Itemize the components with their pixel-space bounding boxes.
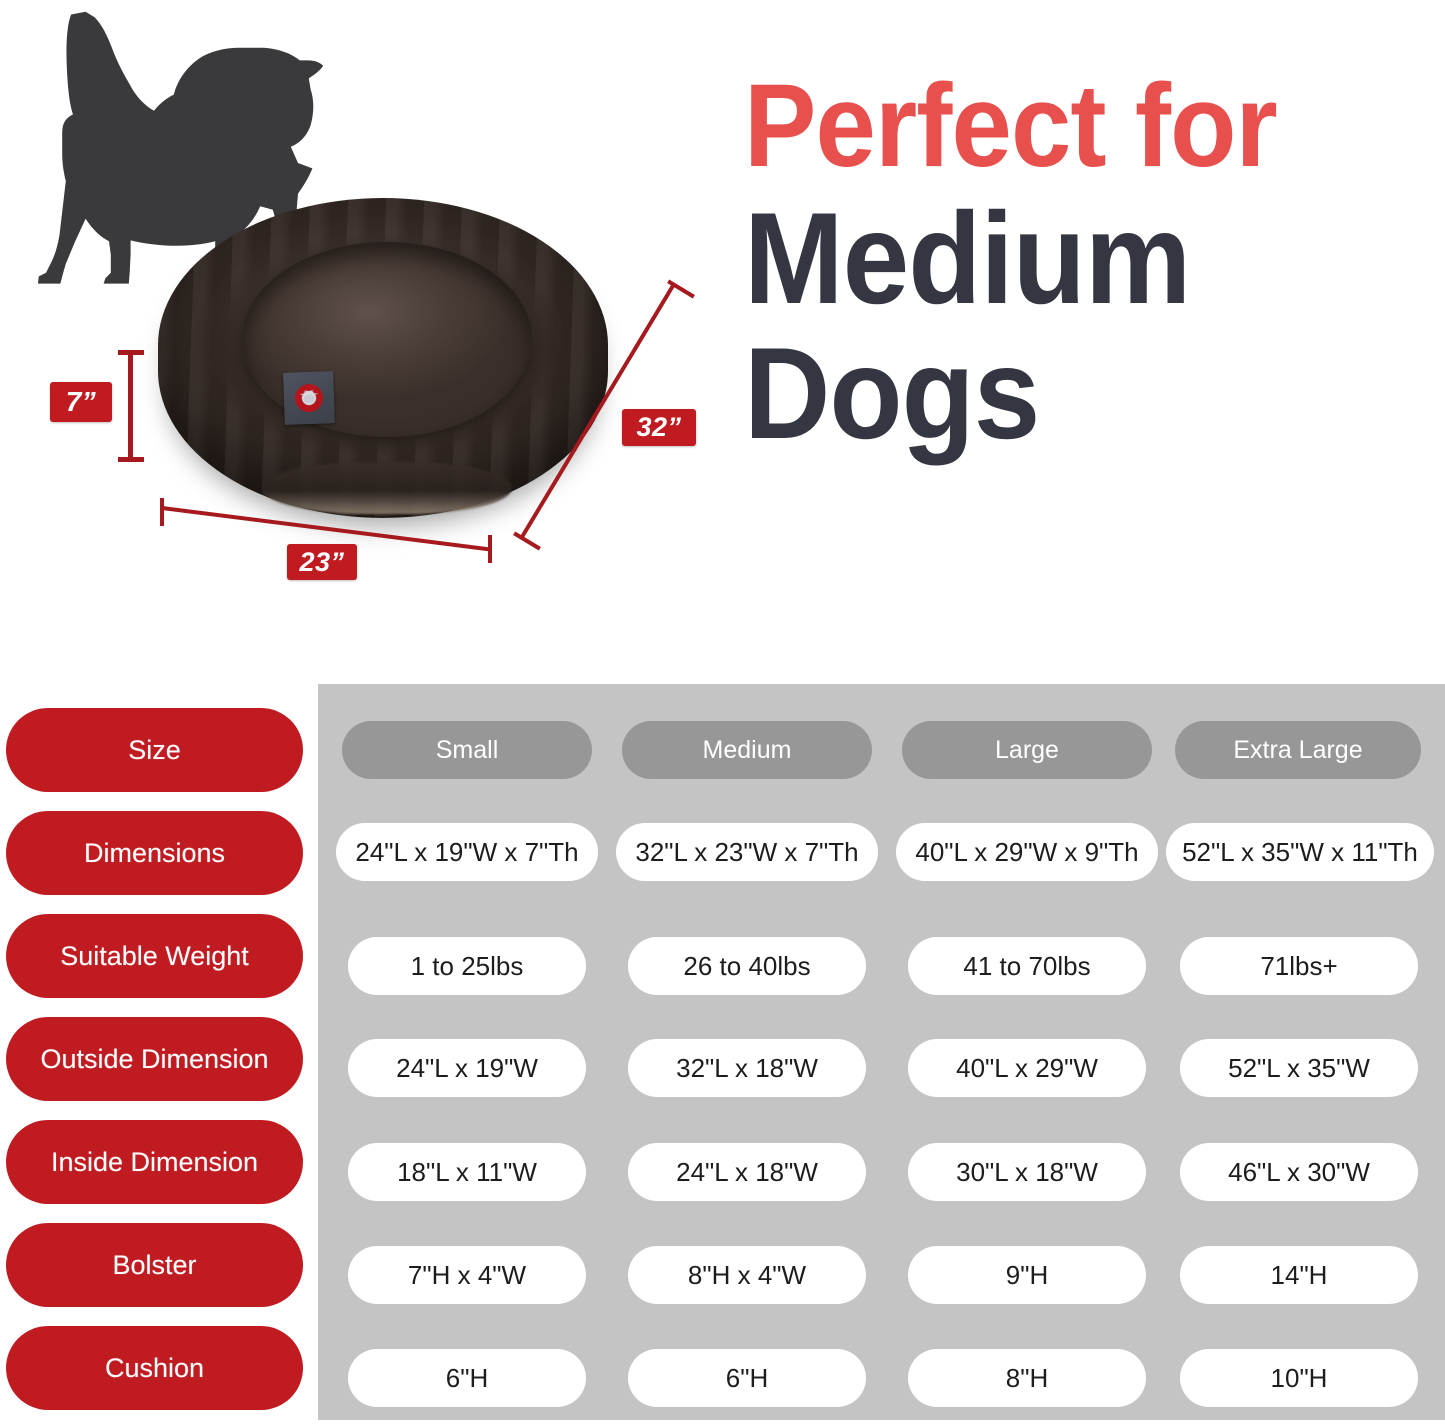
headline-line-dogs: Dogs bbox=[744, 333, 1388, 454]
width-callout-value: 23” bbox=[299, 547, 344, 578]
table-cell-text: 8"H bbox=[1006, 1363, 1048, 1394]
table-cell-text: 8"H x 4"W bbox=[688, 1260, 806, 1291]
table-cell-text: 24"L x 18"W bbox=[676, 1157, 818, 1188]
height-callout-badge: 7” bbox=[50, 382, 112, 422]
table-cell-text: 6"H bbox=[726, 1363, 768, 1394]
length-callout-value: 32” bbox=[636, 412, 681, 443]
paw-logo-icon bbox=[295, 384, 324, 413]
length-callout-badge: 32” bbox=[622, 409, 696, 446]
table-cell-text: 52"L x 35"W bbox=[1228, 1053, 1370, 1084]
table-cell: 14"H bbox=[1180, 1246, 1418, 1304]
hero-section: 7” 23” 32” Perfect for Medium Dogs bbox=[0, 0, 1445, 660]
row-label-suitable-weight: Suitable Weight bbox=[6, 914, 303, 998]
table-cell: 46"L x 30"W bbox=[1180, 1143, 1418, 1201]
table-cell-text: 32"L x 23"W x 7"Th bbox=[635, 837, 858, 868]
column-header-text: Extra Large bbox=[1233, 736, 1362, 765]
column-header-text: Medium bbox=[703, 736, 792, 765]
height-tick-top bbox=[118, 350, 144, 355]
row-label-bolster: Bolster bbox=[6, 1223, 303, 1307]
column-header-small: Small bbox=[342, 721, 592, 779]
table-cell: 30"L x 18"W bbox=[908, 1143, 1146, 1201]
table-cell-text: 41 to 70lbs bbox=[963, 951, 1090, 982]
table-cell-text: 40"L x 29"W bbox=[956, 1053, 1098, 1084]
table-cell: 26 to 40lbs bbox=[628, 937, 866, 995]
width-callout-badge: 23” bbox=[287, 544, 357, 580]
headline-line-medium: Medium bbox=[744, 198, 1388, 319]
table-cell: 7"H x 4"W bbox=[348, 1246, 586, 1304]
row-label-size: Size bbox=[6, 708, 303, 792]
headline-block: Perfect for Medium Dogs bbox=[744, 72, 1444, 454]
width-tick-right bbox=[488, 535, 492, 563]
table-cell: 71lbs+ bbox=[1180, 937, 1418, 995]
table-cell: 10"H bbox=[1180, 1349, 1418, 1407]
table-cell-text: 1 to 25lbs bbox=[411, 951, 524, 982]
height-dimension-line bbox=[128, 350, 133, 462]
table-cell-text: 24"L x 19"W bbox=[396, 1053, 538, 1084]
row-label-text: Bolster bbox=[112, 1250, 196, 1281]
column-header-text: Large bbox=[995, 736, 1059, 765]
row-label-dimensions: Dimensions bbox=[6, 811, 303, 895]
table-cell-text: 6"H bbox=[446, 1363, 488, 1394]
table-cell: 52"L x 35"W bbox=[1180, 1039, 1418, 1097]
table-cell-text: 30"L x 18"W bbox=[956, 1157, 1098, 1188]
table-cell: 8"H bbox=[908, 1349, 1146, 1407]
table-cell: 24"L x 19"W x 7"Th bbox=[336, 823, 598, 881]
table-cell-text: 18"L x 11"W bbox=[397, 1157, 537, 1188]
row-label-text: Size bbox=[128, 735, 181, 766]
row-label-text: Outside Dimension bbox=[40, 1044, 268, 1075]
table-cell-text: 10"H bbox=[1271, 1363, 1328, 1394]
table-cell: 32"L x 18"W bbox=[628, 1039, 866, 1097]
table-cell: 40"L x 29"W bbox=[908, 1039, 1146, 1097]
row-label-text: Dimensions bbox=[84, 838, 225, 869]
table-cell: 52"L x 35"W x 11"Th bbox=[1166, 823, 1434, 881]
width-tick-left bbox=[160, 498, 164, 526]
table-cell-text: 9"H bbox=[1006, 1260, 1048, 1291]
column-header-large: Large bbox=[902, 721, 1152, 779]
spec-table: Size Dimensions Suitable Weight Outside … bbox=[0, 684, 1445, 1427]
table-cell: 32"L x 23"W x 7"Th bbox=[616, 823, 878, 881]
table-cell-text: 14"H bbox=[1271, 1260, 1328, 1291]
row-label-outside-dimension: Outside Dimension bbox=[6, 1017, 303, 1101]
table-cell: 24"L x 18"W bbox=[628, 1143, 866, 1201]
table-cell: 18"L x 11"W bbox=[348, 1143, 586, 1201]
row-label-text: Cushion bbox=[105, 1353, 204, 1384]
table-cell-text: 26 to 40lbs bbox=[683, 951, 810, 982]
table-cell-text: 46"L x 30"W bbox=[1228, 1157, 1370, 1188]
table-cell: 6"H bbox=[628, 1349, 866, 1407]
row-label-cushion: Cushion bbox=[6, 1326, 303, 1410]
table-cell: 9"H bbox=[908, 1246, 1146, 1304]
table-cell: 24"L x 19"W bbox=[348, 1039, 586, 1097]
column-header-medium: Medium bbox=[622, 721, 872, 779]
table-cell: 6"H bbox=[348, 1349, 586, 1407]
height-callout-value: 7” bbox=[66, 386, 97, 418]
row-label-text: Suitable Weight bbox=[60, 941, 249, 972]
brand-tag bbox=[283, 371, 335, 425]
table-cell: 1 to 25lbs bbox=[348, 937, 586, 995]
table-cell: 40"L x 29"W x 9"Th bbox=[896, 823, 1158, 881]
table-cell: 41 to 70lbs bbox=[908, 937, 1146, 995]
length-tick-bottom bbox=[513, 532, 541, 551]
row-label-inside-dimension: Inside Dimension bbox=[6, 1120, 303, 1204]
column-header-text: Small bbox=[436, 736, 499, 765]
row-label-text: Inside Dimension bbox=[51, 1147, 258, 1178]
table-cell-text: 40"L x 29"W x 9"Th bbox=[915, 837, 1138, 868]
height-tick-bottom bbox=[118, 457, 144, 462]
table-cell-text: 7"H x 4"W bbox=[408, 1260, 526, 1291]
headline-line-accent: Perfect for bbox=[744, 72, 1388, 182]
table-cell-text: 52"L x 35"W x 11"Th bbox=[1182, 837, 1418, 868]
table-cell-text: 32"L x 18"W bbox=[676, 1053, 818, 1084]
table-cell-text: 24"L x 19"W x 7"Th bbox=[355, 837, 578, 868]
column-header-extra-large: Extra Large bbox=[1175, 721, 1421, 779]
table-cell-text: 71lbs+ bbox=[1260, 951, 1337, 982]
table-cell: 8"H x 4"W bbox=[628, 1246, 866, 1304]
